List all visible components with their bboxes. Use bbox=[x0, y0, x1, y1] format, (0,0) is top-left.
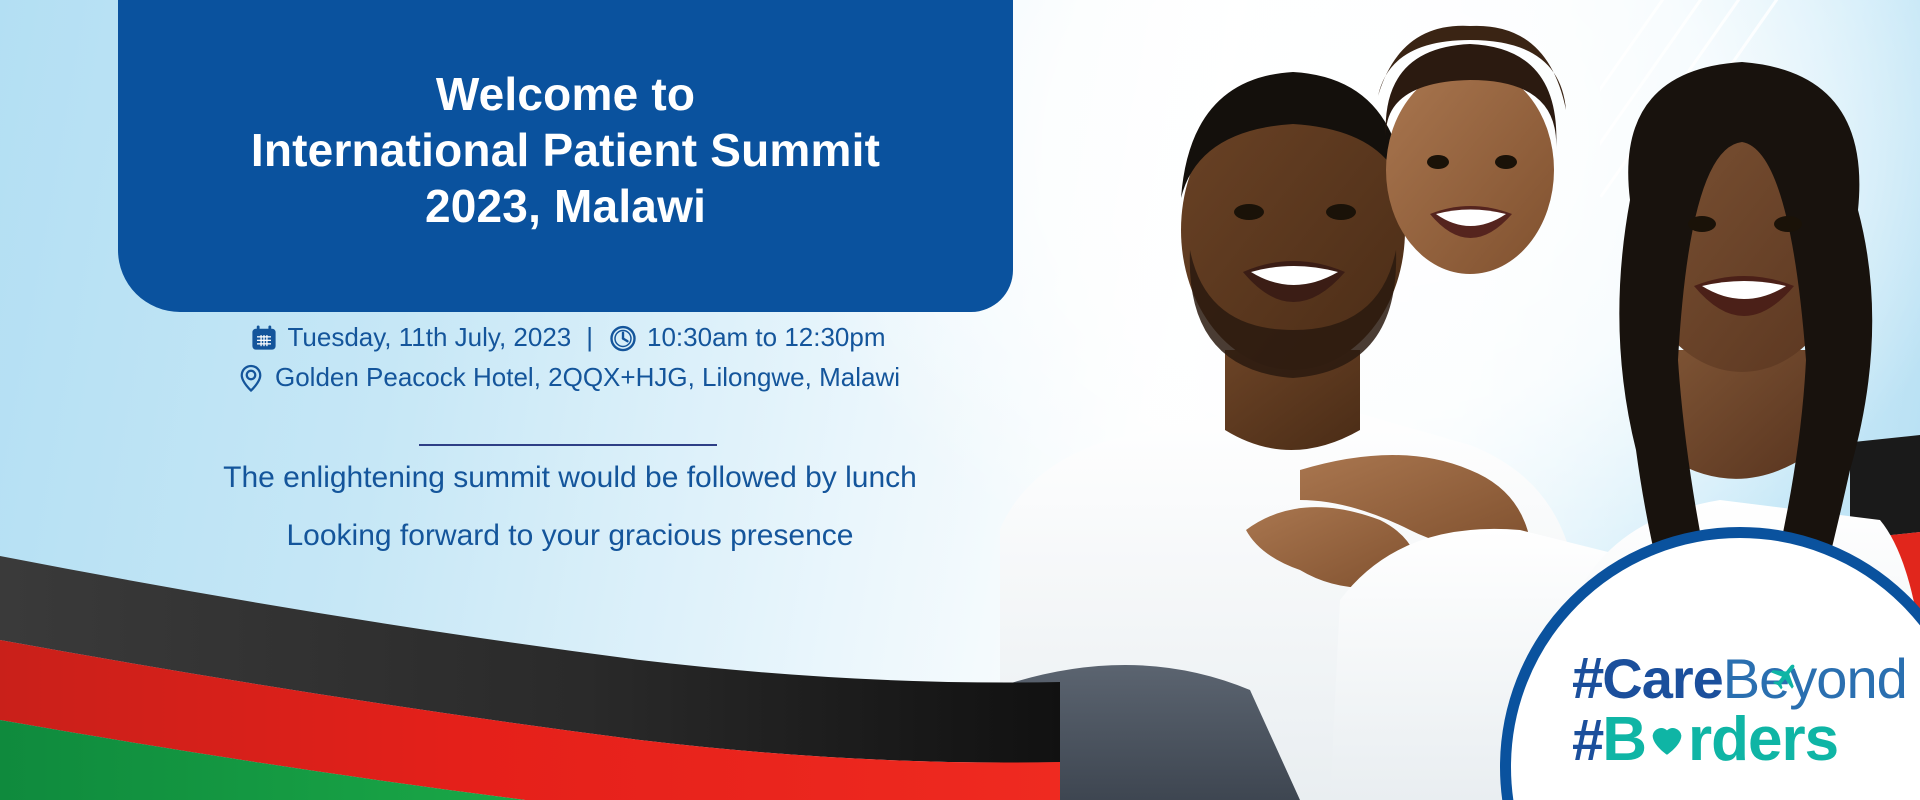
location-pin-icon bbox=[236, 363, 266, 393]
ribbon-stripe-black bbox=[0, 556, 1060, 763]
tagline-line-2: Looking forward to your gracious presenc… bbox=[70, 520, 1070, 552]
logo-line-care-beyond: # Care Beyond bbox=[1572, 645, 1920, 712]
logo-beyond-tail: nd bbox=[1846, 647, 1906, 710]
ribbon-stripe-red bbox=[0, 640, 1060, 800]
headline-line-1: Welcome to bbox=[436, 66, 695, 122]
care-beyond-borders-logo: # Care Beyond # B rders bbox=[1572, 645, 1920, 775]
logo-line-borders: # B rders bbox=[1572, 704, 1920, 775]
hash-icon-2: # bbox=[1572, 707, 1602, 774]
event-invitation-banner: Welcome to International Patient Summit … bbox=[0, 0, 1920, 800]
ribbon-stripe-green bbox=[0, 720, 1060, 800]
logo-word-beyond: Beyond bbox=[1723, 646, 1907, 711]
logo-borders-b: B bbox=[1602, 704, 1646, 775]
date-time-row: Tuesday, 11th July, 2023 | 10:30am to 12… bbox=[118, 322, 1018, 353]
event-meta: Tuesday, 11th July, 2023 | 10:30am to 12… bbox=[118, 322, 1018, 393]
venue-row: Golden Peacock Hotel, 2QQX+HJG, Lilongwe… bbox=[118, 362, 1018, 393]
clock-icon bbox=[608, 323, 638, 353]
headline-line-3: 2023, Malawi bbox=[425, 178, 706, 234]
logo-borders-tail: rders bbox=[1688, 704, 1838, 775]
airplane-icon bbox=[1768, 642, 1802, 707]
heart-icon bbox=[1645, 704, 1689, 775]
calendar-icon bbox=[250, 324, 278, 352]
headline-line-2: International Patient Summit bbox=[251, 122, 880, 178]
event-venue: Golden Peacock Hotel, 2QQX+HJG, Lilongwe… bbox=[275, 362, 900, 393]
hash-icon-1: # bbox=[1572, 645, 1602, 712]
tagline-block: The enlightening summit would be followe… bbox=[70, 462, 1070, 552]
section-divider bbox=[118, 438, 1018, 452]
headline-card: Welcome to International Patient Summit … bbox=[118, 0, 1013, 312]
event-date: Tuesday, 11th July, 2023 bbox=[287, 322, 571, 353]
tagline-line-1: The enlightening summit would be followe… bbox=[70, 462, 1070, 494]
meta-separator: | bbox=[580, 322, 599, 353]
event-time: 10:30am to 12:30pm bbox=[647, 322, 886, 353]
logo-word-borders: B rders bbox=[1602, 704, 1838, 775]
logo-word-care: Care bbox=[1602, 646, 1723, 711]
